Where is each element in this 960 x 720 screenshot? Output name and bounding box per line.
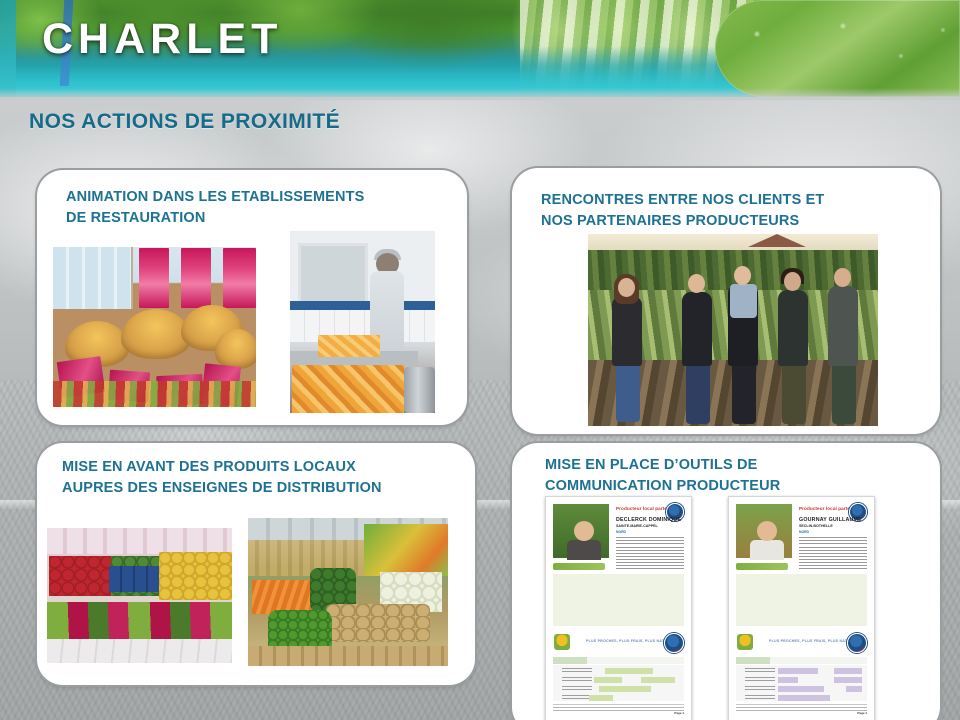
card-title: RENCONTRES ENTRE NOS CLIENTS ET NOS PART… xyxy=(541,190,921,233)
calendar-body xyxy=(736,665,867,701)
promo-banner xyxy=(139,248,169,308)
producer-intro-block xyxy=(616,547,684,571)
calendar-header: Offre & calendrier fruits J F M A M J J … xyxy=(736,657,867,664)
card-title-line2: DE RESTAURATION xyxy=(66,210,205,226)
section-tab-button xyxy=(736,563,788,570)
apple-bin xyxy=(49,556,111,596)
blue-trays xyxy=(109,566,161,592)
promo-banner xyxy=(181,248,211,308)
card-title-line1: ANIMATION DANS LES ETABLISSEMENTS xyxy=(66,189,364,205)
quality-seal-icon xyxy=(664,633,684,653)
producer-portrait-photo xyxy=(736,504,792,558)
vegetable-poster xyxy=(364,524,448,576)
producer-sheet-gournay[interactable]: Producteur local partenaire GOURNAY GUIL… xyxy=(728,496,875,720)
sheet-divider xyxy=(736,704,867,705)
card-title-line2: AUPRES DES ENSEIGNES DE DISTRIBUTION xyxy=(62,480,382,496)
carrot-pile xyxy=(252,580,312,614)
producer-torso xyxy=(567,540,601,560)
producer-department: NORD xyxy=(799,530,809,534)
kitchen-preparation-photo xyxy=(290,231,435,413)
producer-location: SECLIN-BOTHELLE xyxy=(799,524,833,528)
redcurrant-photo-panel xyxy=(715,0,960,97)
wooden-crate xyxy=(248,646,448,666)
stand-wrap-banner xyxy=(47,602,232,640)
window-region xyxy=(53,247,133,309)
card-title: MISE EN AVANT DES PRODUITS LOCAUX AUPRES… xyxy=(62,457,462,500)
producer-department: NORD xyxy=(616,530,626,534)
sheet-footer-text xyxy=(736,707,867,712)
sheet-footer-text xyxy=(553,707,684,712)
sheet-page-number: Page 1 xyxy=(857,711,867,715)
producer-quote-band xyxy=(616,537,684,545)
producer-name: GOURNAY GUILLAUME xyxy=(799,517,862,523)
card-title-line1: MISE EN PLACE D’OUTILS DE xyxy=(545,457,757,473)
fruit-tray xyxy=(292,365,404,413)
fruit-baskets-display-photo xyxy=(53,247,256,407)
potato-pile xyxy=(326,604,430,642)
yellow-apple-bin xyxy=(159,552,232,600)
charlet-logo-icon xyxy=(737,634,753,650)
producer-location: SAINTE-MARIE-CAPPEL xyxy=(616,524,658,528)
producer-intro-block xyxy=(799,547,867,571)
calendar-header: Offre & calendrier agricole J F M A M J … xyxy=(553,657,684,664)
producer-torso xyxy=(750,540,784,560)
producer-face xyxy=(757,521,777,541)
producer-quote-band xyxy=(799,537,867,545)
charlet-logo-icon xyxy=(554,634,570,650)
brand-logo: CHARLET xyxy=(42,18,282,61)
card-title: ANIMATION DANS LES ETABLISSEMENTS DE RES… xyxy=(66,187,456,230)
fruit-tray xyxy=(318,335,380,357)
sheet-divider xyxy=(553,704,684,705)
producer-statement-block xyxy=(553,574,684,626)
supermarket-fruit-stand-photo xyxy=(47,528,232,663)
sheet-page-number: Page 1 xyxy=(674,711,684,715)
quality-seal-icon xyxy=(847,633,867,653)
card-title-line2: NOS PARTENAIRES PRODUCTEURS xyxy=(541,213,799,229)
producer-portrait-photo xyxy=(553,504,609,558)
header-banner: CHARLET xyxy=(0,0,960,97)
supermarket-vegetable-display-photo xyxy=(248,518,448,666)
section-tab-button xyxy=(553,563,605,570)
presentation-slide: CHARLET NOS ACTIONS DE PROXIMITÉ ANIMATI… xyxy=(0,0,960,720)
page-title: NOS ACTIONS DE PROXIMITÉ xyxy=(29,110,340,134)
promo-banner xyxy=(223,248,256,308)
wall-stripe xyxy=(290,301,435,310)
producer-sheet-declerck[interactable]: Producteur local partenaire DECLERCK DOM… xyxy=(545,496,692,720)
fruit-basket xyxy=(215,329,256,369)
store-floor xyxy=(47,639,232,663)
table-cloth xyxy=(53,381,256,407)
shelf-backdrop xyxy=(47,528,232,554)
leek-field-meeting-photo xyxy=(588,234,878,426)
card-title-line2: COMMUNICATION PRODUCTEUR xyxy=(545,478,780,494)
card-title-line1: MISE EN AVANT DES PRODUITS LOCAUX xyxy=(62,459,356,475)
waste-bin xyxy=(404,367,435,413)
producer-face xyxy=(574,521,594,541)
producer-name: DECLERCK DOMINIQUE xyxy=(616,517,681,523)
banner-bottom-fade xyxy=(0,88,960,100)
calendar-body xyxy=(553,665,684,701)
producer-statement-block xyxy=(736,574,867,626)
card-title-line1: RENCONTRES ENTRE NOS CLIENTS ET xyxy=(541,192,824,208)
banner-left-stripe xyxy=(0,0,16,97)
card-title: MISE EN PLACE D’OUTILS DE COMMUNICATION … xyxy=(545,455,925,498)
